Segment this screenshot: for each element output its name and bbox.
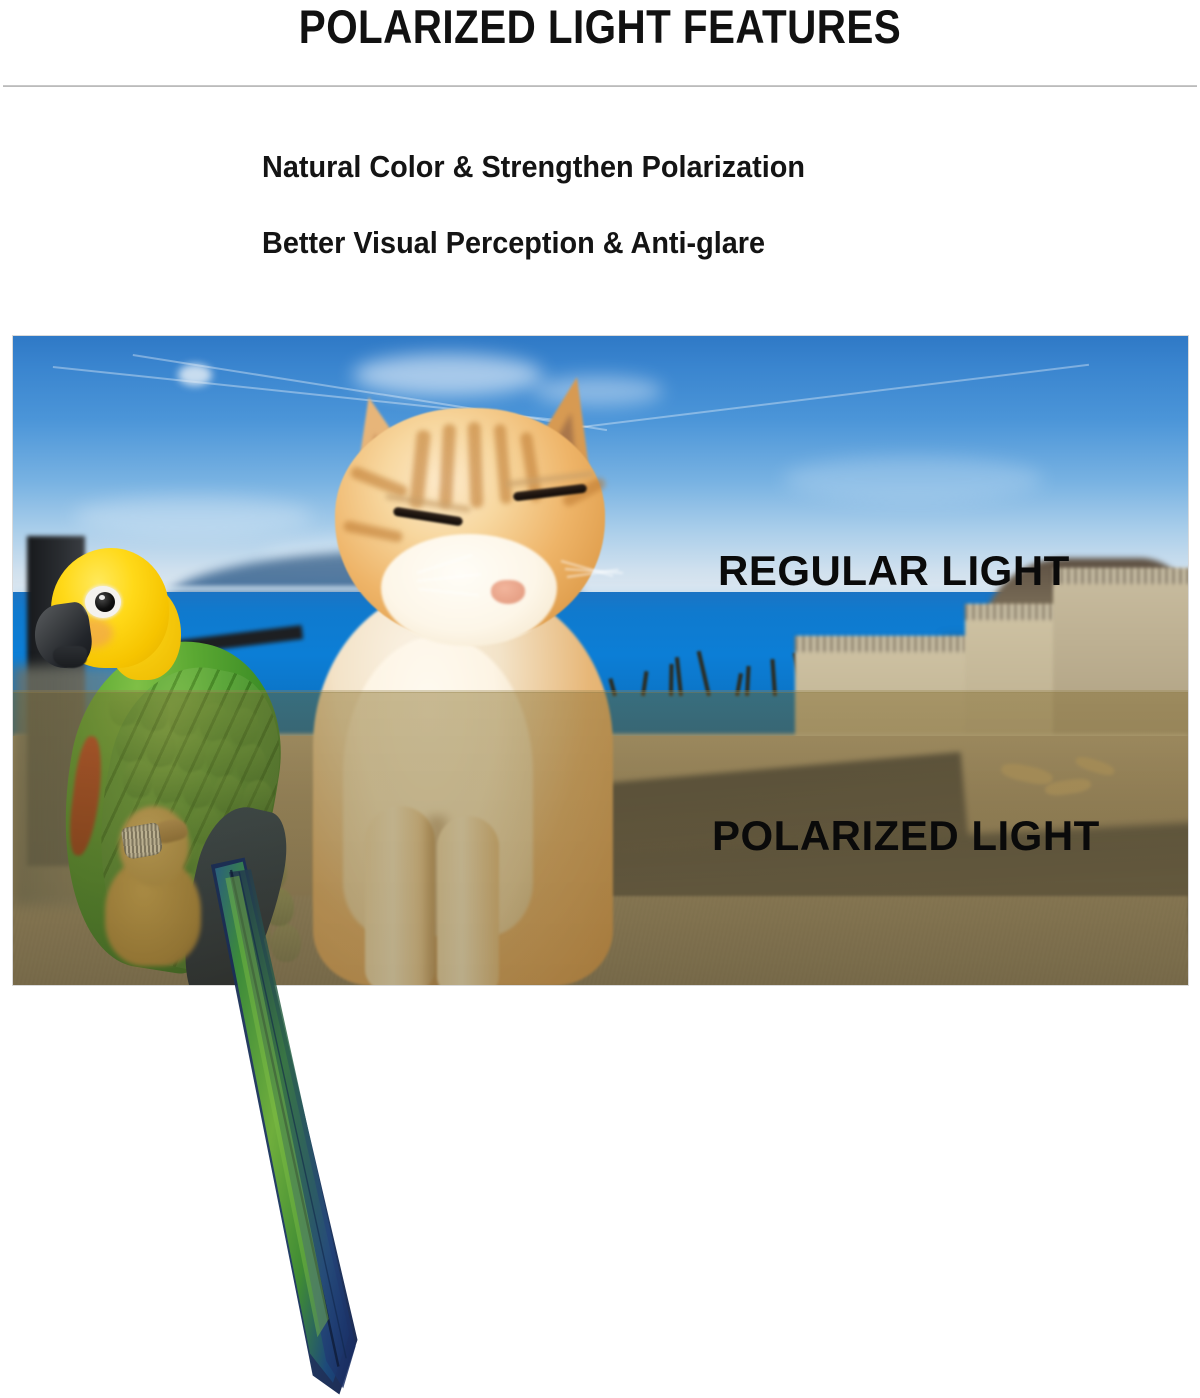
photo-canvas: REGULAR LIGHT POLARIZED LIGHT: [13, 336, 1188, 985]
page-title: POLARIZED LIGHT FEATURES: [84, 2, 1116, 52]
parrot-pupil: [95, 592, 115, 612]
parrot-lower-beak: [53, 646, 87, 668]
header-divider: [3, 85, 1197, 87]
polarized-split-line: [13, 690, 1188, 693]
label-regular-light: REGULAR LIGHT: [718, 547, 1070, 595]
feature-list: Natural Color & Strengthen Polarization …: [262, 148, 1082, 262]
feature-line-1: Natural Color & Strengthen Polarization: [262, 148, 1025, 186]
comparison-photo: REGULAR LIGHT POLARIZED LIGHT: [13, 336, 1188, 985]
page-root: POLARIZED LIGHT FEATURES Natural Color &…: [0, 0, 1200, 1055]
parrot-eye-glint: [99, 595, 105, 600]
label-polarized-light: POLARIZED LIGHT: [712, 812, 1100, 860]
feature-line-2: Better Visual Perception & Anti-glare: [262, 224, 1025, 262]
